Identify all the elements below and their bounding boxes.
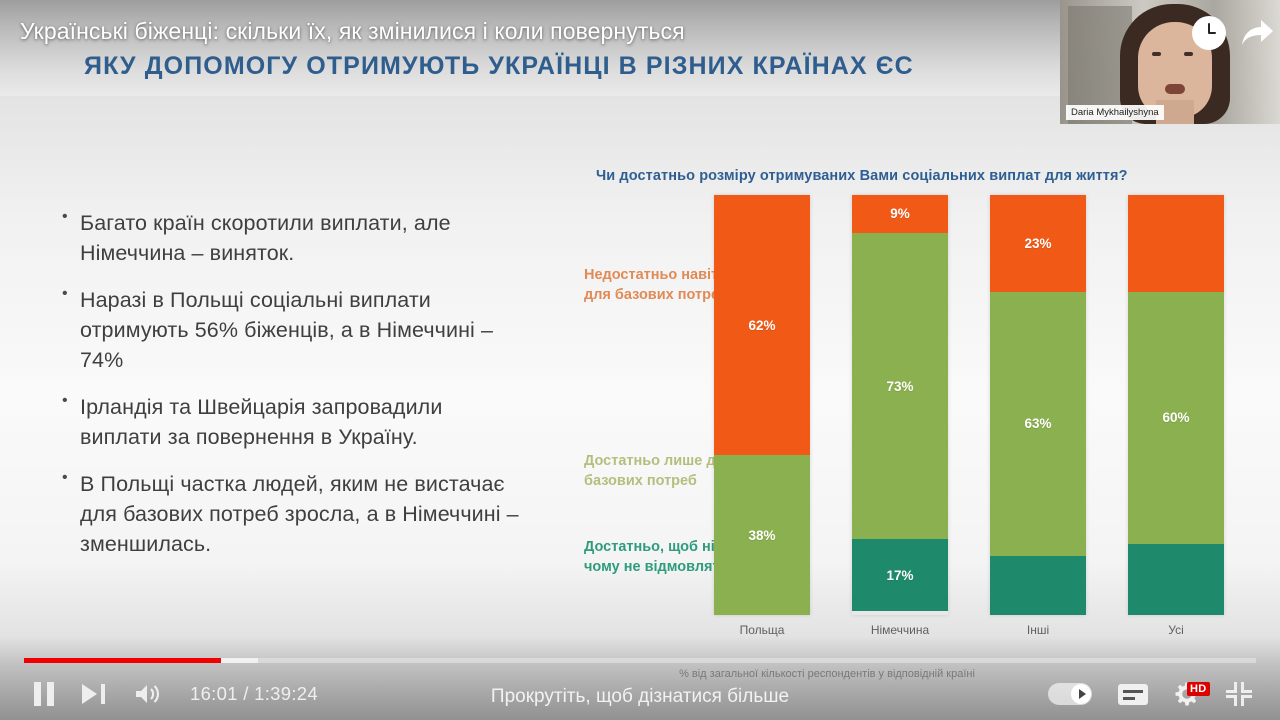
- bar-segment: 23%: [990, 195, 1086, 292]
- pause-button[interactable]: [34, 682, 54, 706]
- progress-bar[interactable]: [24, 658, 1256, 663]
- speaker-eye-right: [1184, 52, 1193, 56]
- bar-segment-label: 38%: [748, 528, 775, 543]
- bar-segment-label: 17%: [886, 568, 913, 583]
- bar-stack: 62%38%: [714, 195, 810, 615]
- bar-stack: 23%63%: [990, 195, 1086, 615]
- bar-stack: 60%: [1128, 195, 1224, 615]
- bar-column: 60%: [1128, 195, 1224, 615]
- volume-icon: [134, 683, 162, 705]
- bar-column: 62%38%: [714, 195, 810, 615]
- bullet-marker-icon: •: [62, 208, 80, 217]
- pause-icon: [34, 682, 54, 706]
- bar-segment: 73%: [852, 233, 948, 540]
- list-item: • Наразі в Польщі соціальні виплати отри…: [62, 285, 522, 375]
- speaker-mouth: [1165, 84, 1185, 94]
- hd-badge: HD: [1187, 682, 1210, 696]
- list-item: • Багато країн скоротили виплати, але Ні…: [62, 208, 522, 268]
- bar-stack: 9%73%17%: [852, 195, 948, 615]
- stacked-bar-chart: 62%38%Польща9%73%17%Німеччина23%63%Інші6…: [714, 205, 1224, 637]
- list-item: • Ірландія та Швейцарія запровадили випл…: [62, 392, 522, 452]
- category-label: Польща: [702, 623, 822, 637]
- legend-item-sufficient: Достатньо, щоб ні в чому не відмовляти: [584, 537, 734, 577]
- bar-segment: [1128, 195, 1224, 292]
- bar-column: 9%73%17%: [852, 195, 948, 615]
- list-item: • В Польщі частка людей, яким не вистача…: [62, 469, 522, 559]
- speaker-eye-left: [1152, 52, 1161, 56]
- bar-segment-label: 23%: [1024, 236, 1051, 251]
- bullet-text: В Польщі частка людей, яким не вистачає …: [80, 469, 522, 559]
- category-label: Німеччина: [840, 623, 960, 637]
- bar-column: 23%63%: [990, 195, 1086, 615]
- bullet-marker-icon: •: [62, 285, 80, 294]
- bar-segment-label: 9%: [890, 206, 910, 221]
- bullet-text: Багато країн скоротили виплати, але Німе…: [80, 208, 522, 268]
- category-label: Усі: [1116, 623, 1236, 637]
- bullet-text: Ірландія та Швейцарія запровадили виплат…: [80, 392, 522, 452]
- speaker-name-label: Daria Mykhailyshyna: [1066, 105, 1164, 120]
- bullet-marker-icon: •: [62, 469, 80, 478]
- settings-gear-icon[interactable]: HD: [1174, 681, 1200, 707]
- bar-segment-label: 63%: [1024, 416, 1051, 431]
- subtitles-icon[interactable]: [1118, 684, 1148, 705]
- chart-title: Чи достатньо розміру отримуваних Вами со…: [596, 168, 1216, 184]
- bar-segment: 38%: [714, 455, 810, 615]
- bar-segment: [990, 556, 1086, 615]
- time-display: 16:01 / 1:39:24: [190, 683, 318, 705]
- autoplay-toggle[interactable]: [1048, 683, 1092, 705]
- exit-fullscreen-icon[interactable]: [1226, 682, 1252, 706]
- legend-item-insufficient: Недостатньо навіть для базових потреб: [584, 265, 734, 305]
- bar-segment: 60%: [1128, 292, 1224, 544]
- speaker-webcam-overlay: Daria Mykhailyshyna: [1060, 0, 1280, 124]
- share-icon[interactable]: [1240, 18, 1274, 48]
- video-overlay-actions: [1192, 16, 1274, 50]
- controls-right-group: HD: [1048, 681, 1280, 707]
- bullet-marker-icon: •: [62, 392, 80, 401]
- next-video-button[interactable]: [82, 684, 106, 704]
- bar-segment: 62%: [714, 195, 810, 455]
- bar-segment: 63%: [990, 292, 1086, 557]
- bar-segment-label: 62%: [748, 318, 775, 333]
- youtube-video-player: Українські біженці: скільки їх, як зміни…: [0, 0, 1280, 720]
- volume-button[interactable]: [134, 683, 162, 705]
- watch-later-icon[interactable]: [1192, 16, 1226, 50]
- bar-segment-label: 73%: [886, 379, 913, 394]
- controls-left-group: 16:01 / 1:39:24: [0, 682, 318, 706]
- slide-bullet-list: • Багато країн скоротили виплати, але Ні…: [62, 208, 522, 576]
- autoplay-knob-icon: [1071, 684, 1091, 704]
- next-icon: [82, 684, 106, 704]
- legend-item-basic-only: Достатньо лише для базових потреб: [584, 451, 734, 491]
- bullet-text: Наразі в Польщі соціальні виплати отриму…: [80, 285, 522, 375]
- video-title: Українські біженці: скільки їх, як зміни…: [20, 18, 685, 45]
- progress-played: [24, 658, 221, 663]
- bar-segment: [1128, 544, 1224, 615]
- bar-segment: 9%: [852, 195, 948, 233]
- bar-segment: 17%: [852, 539, 948, 610]
- bar-segment-label: 60%: [1162, 410, 1189, 425]
- player-controls-bar: 16:01 / 1:39:24 HD: [0, 668, 1280, 720]
- slide-title: ЯКУ ДОПОМОГУ ОТРИМУЮТЬ УКРАЇНЦІ В РІЗНИХ…: [84, 52, 914, 81]
- category-label: Інші: [978, 623, 1098, 637]
